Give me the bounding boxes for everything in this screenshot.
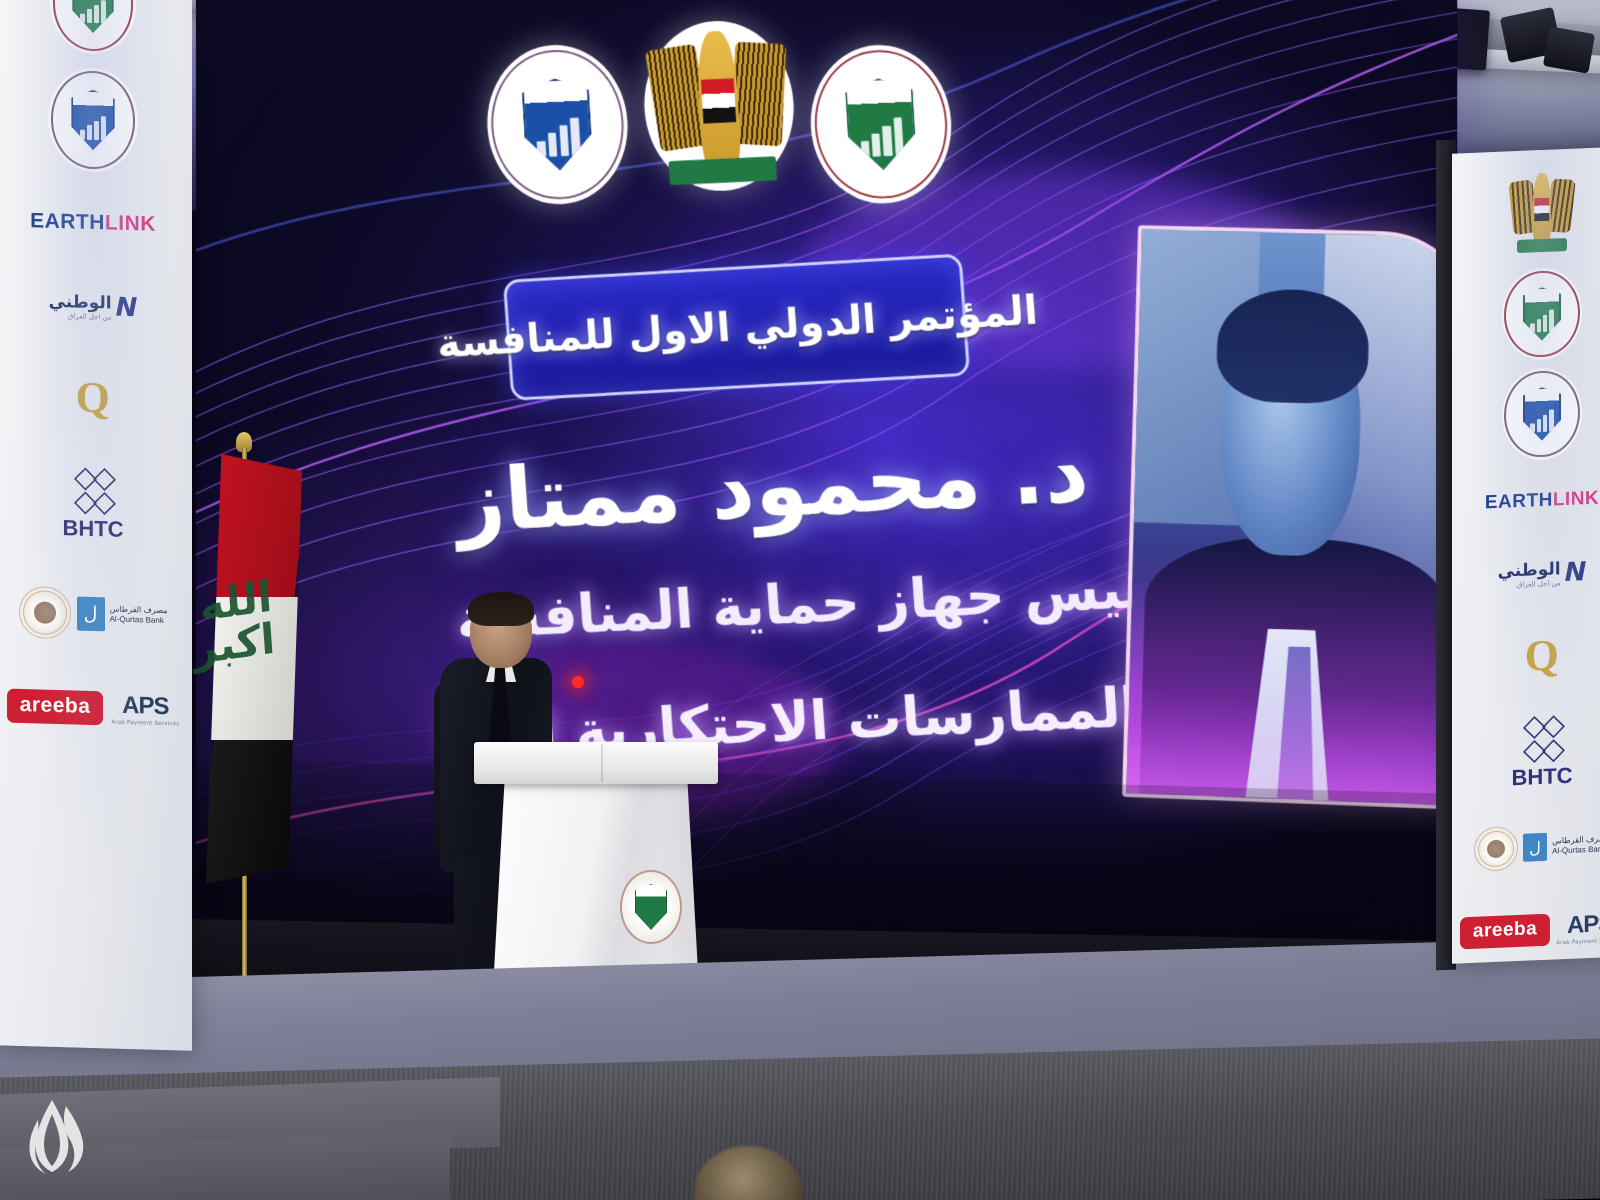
al-qurtas-label: Al-Qurtas Bank (110, 614, 164, 625)
crest-competition-market-affairs (483, 42, 632, 207)
al-qurtas-label-right: Al-Qurtas Bank (1552, 844, 1600, 855)
sponsor-right-3: EARTHLINK (1452, 460, 1600, 540)
al-qurtas-bank-logo-right: ل مصرف القرطاس Al-Qurtas Bank (1523, 830, 1600, 862)
al-qurtas-label-ar: مصرف القرطاس (110, 604, 168, 616)
sponsor-left-7: areeba APS Arab Payment Services (0, 663, 192, 753)
aps-sub: Arab Payment Services (111, 720, 179, 728)
speaker-portrait-panel (1122, 225, 1457, 810)
aps-label-right: APS (1567, 910, 1600, 940)
sponsor-left-1 (0, 57, 192, 183)
conference-title-text: المؤتمر الدولي الاول للمنافسة (435, 287, 1039, 367)
crest-competition-antitrust-council (806, 42, 955, 207)
areeba-label-right: areeba (1473, 918, 1537, 942)
qi-card-logo: Q (76, 376, 111, 421)
bhtc-label-right: BHTC (1511, 763, 1572, 792)
conference-stage-photo: المؤتمر الدولي الاول للمنافسة د. محمود م… (0, 0, 1600, 1200)
qi-card-logo-right: Q (1525, 633, 1560, 678)
sponsor-right-1 (1452, 260, 1600, 368)
sponsor-left-6: ل مصرف القرطاس Al-Qurtas Bank (0, 559, 192, 669)
al-watani-sub-right: من اجل العراق (1498, 579, 1561, 590)
al-watani-logo-right: الوطني من اجل العراق N (1498, 557, 1587, 591)
flag-takbir-script: الله اكبر (207, 576, 281, 735)
al-qurtas-mark-icon: ل (77, 597, 105, 632)
ceiling-truss-light-2 (1543, 26, 1595, 73)
sponsor-wall-left: EARTHLINK الوطني من اجل العراق N Q (0, 0, 192, 1051)
sponsor-right-2 (1452, 360, 1600, 468)
sponsor-left-0 (0, 0, 192, 63)
al-qurtas-mark-icon-right: ل (1523, 833, 1547, 862)
earthlink-label-right: EARTHLINK (1485, 488, 1599, 512)
republic-of-iraq-eagle-icon (1507, 167, 1577, 258)
sponsor-right-6: ◇◇◇◇ BHTC (1452, 696, 1600, 808)
al-qurtas-bank-logo: ل مصرف القرطاس Al-Qurtas Bank (77, 597, 168, 634)
official-seal-icon (19, 586, 71, 639)
sponsor-right-5: Q (1452, 608, 1600, 704)
al-watani-sub: من اجل العراق (49, 312, 112, 322)
stage-red-indicator-light (572, 676, 584, 688)
sponsor-right-7: ل مصرف القرطاس Al-Qurtas Bank (1452, 800, 1600, 894)
sponsor-left-2: EARTHLINK (0, 177, 192, 267)
areeba-logo-right: areeba (1460, 914, 1550, 950)
bhtc-logo: ◇◇◇◇ BHTC (62, 465, 123, 543)
bhtc-logo-right: ◇◇◇◇ BHTC (1511, 713, 1572, 792)
earthlink-label: EARTHLINK (30, 210, 156, 235)
al-watani-logo: الوطني من اجل العراق N (49, 291, 138, 323)
iraqi-flag: الله اكبر (192, 432, 322, 1032)
qi-label: Q (76, 376, 111, 421)
sponsor-right-8: areeba APS Arab Payment Services (1452, 886, 1600, 974)
crest-competition-antitrust-council-icon-right (1502, 266, 1582, 361)
speaker-hair (468, 592, 534, 626)
al-watani-label: الوطني (49, 292, 112, 314)
led-crest-row (481, 0, 964, 296)
al-watani-label-right: الوطني (1498, 559, 1561, 582)
earthlink-logo: EARTHLINK (30, 210, 156, 235)
sponsor-right-4: الوطني من اجل العراق N (1452, 532, 1600, 616)
aps-logo: APS Arab Payment Services (111, 692, 179, 728)
al-watani-mark-icon-right: N (1565, 557, 1587, 588)
al-qurtas-label-ar-right: مصرف القرطاس (1552, 834, 1600, 846)
earthlink-logo-right: EARTHLINK (1485, 488, 1599, 512)
crest-competition-market-affairs-icon (48, 67, 138, 174)
official-seal-icon-right (1474, 826, 1518, 872)
aps-logo-right: APS Arab Payment Services (1556, 910, 1600, 947)
bhtc-diamond-icon: ◇◇◇◇ (74, 465, 112, 514)
areeba-label: areeba (20, 693, 91, 718)
crest-competition-market-affairs-icon-right (1502, 366, 1582, 461)
areeba-logo: areeba (7, 689, 104, 726)
bhtc-label: BHTC (62, 515, 123, 543)
conference-title-plaque: المؤتمر الدولي الاول للمنافسة (503, 253, 971, 400)
sponsor-left-3: الوطني من اجل العراق N (0, 261, 192, 353)
podium-top-surface (474, 742, 718, 784)
sponsor-left-5: ◇◇◇◇ BHTC (0, 443, 192, 565)
sponsor-wall-right: EARTHLINK الوطني من اجل العراق N Q (1452, 146, 1600, 964)
aps-label: APS (122, 692, 168, 721)
qi-label-right: Q (1525, 633, 1560, 678)
led-video-wall: المؤتمر الدولي الاول للمنافسة د. محمود م… (196, 0, 1457, 1007)
sponsor-left-4: Q (0, 347, 192, 449)
crest-republic-of-iraq-eagle (640, 17, 799, 194)
bhtc-diamond-icon-right: ◇◇◇◇ (1523, 713, 1561, 763)
sponsor-right-0 (1452, 156, 1600, 268)
ina-news-agency-watermark (22, 1096, 88, 1176)
crest-competition-antitrust-council-icon (50, 0, 136, 55)
podium-emblem (620, 870, 682, 944)
aps-sub-right: Arab Payment Services (1556, 938, 1600, 947)
al-watani-mark-icon: N (116, 293, 138, 324)
